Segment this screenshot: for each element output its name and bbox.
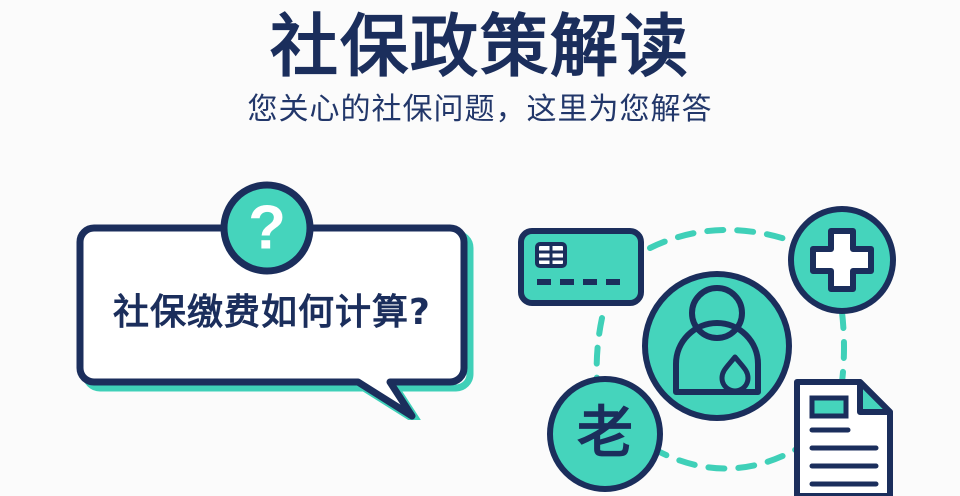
connector-card-to-cross <box>650 230 800 248</box>
avatar-circle <box>645 274 789 418</box>
policy-document-icon[interactable] <box>797 382 890 496</box>
document-header-box <box>812 398 846 416</box>
connector-cross-to-document <box>842 312 844 382</box>
question-bubble-shape <box>60 180 480 420</box>
page-title: 社保政策解读 <box>0 0 960 86</box>
header: 社保政策解读 您关心的社保问题，这里为您解答 <box>0 0 960 128</box>
question-mark-icon <box>224 185 310 271</box>
connector-pension-to-document <box>652 446 802 469</box>
pension-lao-icon[interactable] <box>550 379 660 489</box>
question-bubble[interactable]: ? 社保缴费如何计算? <box>60 180 480 420</box>
page-subtitle: 您关心的社保问题，这里为您解答 <box>0 86 960 128</box>
icon-cluster-graphic <box>490 196 940 496</box>
social-security-card-icon[interactable] <box>521 231 641 303</box>
poster-canvas: 社保政策解读 您关心的社保问题，这里为您解答 ? 社保缴费如何计算? <box>0 0 960 491</box>
pension-circle <box>550 379 660 489</box>
icon-cluster: 老 <box>490 196 940 496</box>
medical-cross-icon[interactable] <box>791 209 893 311</box>
document-folded-corner <box>860 382 890 412</box>
person-avatar-icon[interactable] <box>645 274 789 418</box>
